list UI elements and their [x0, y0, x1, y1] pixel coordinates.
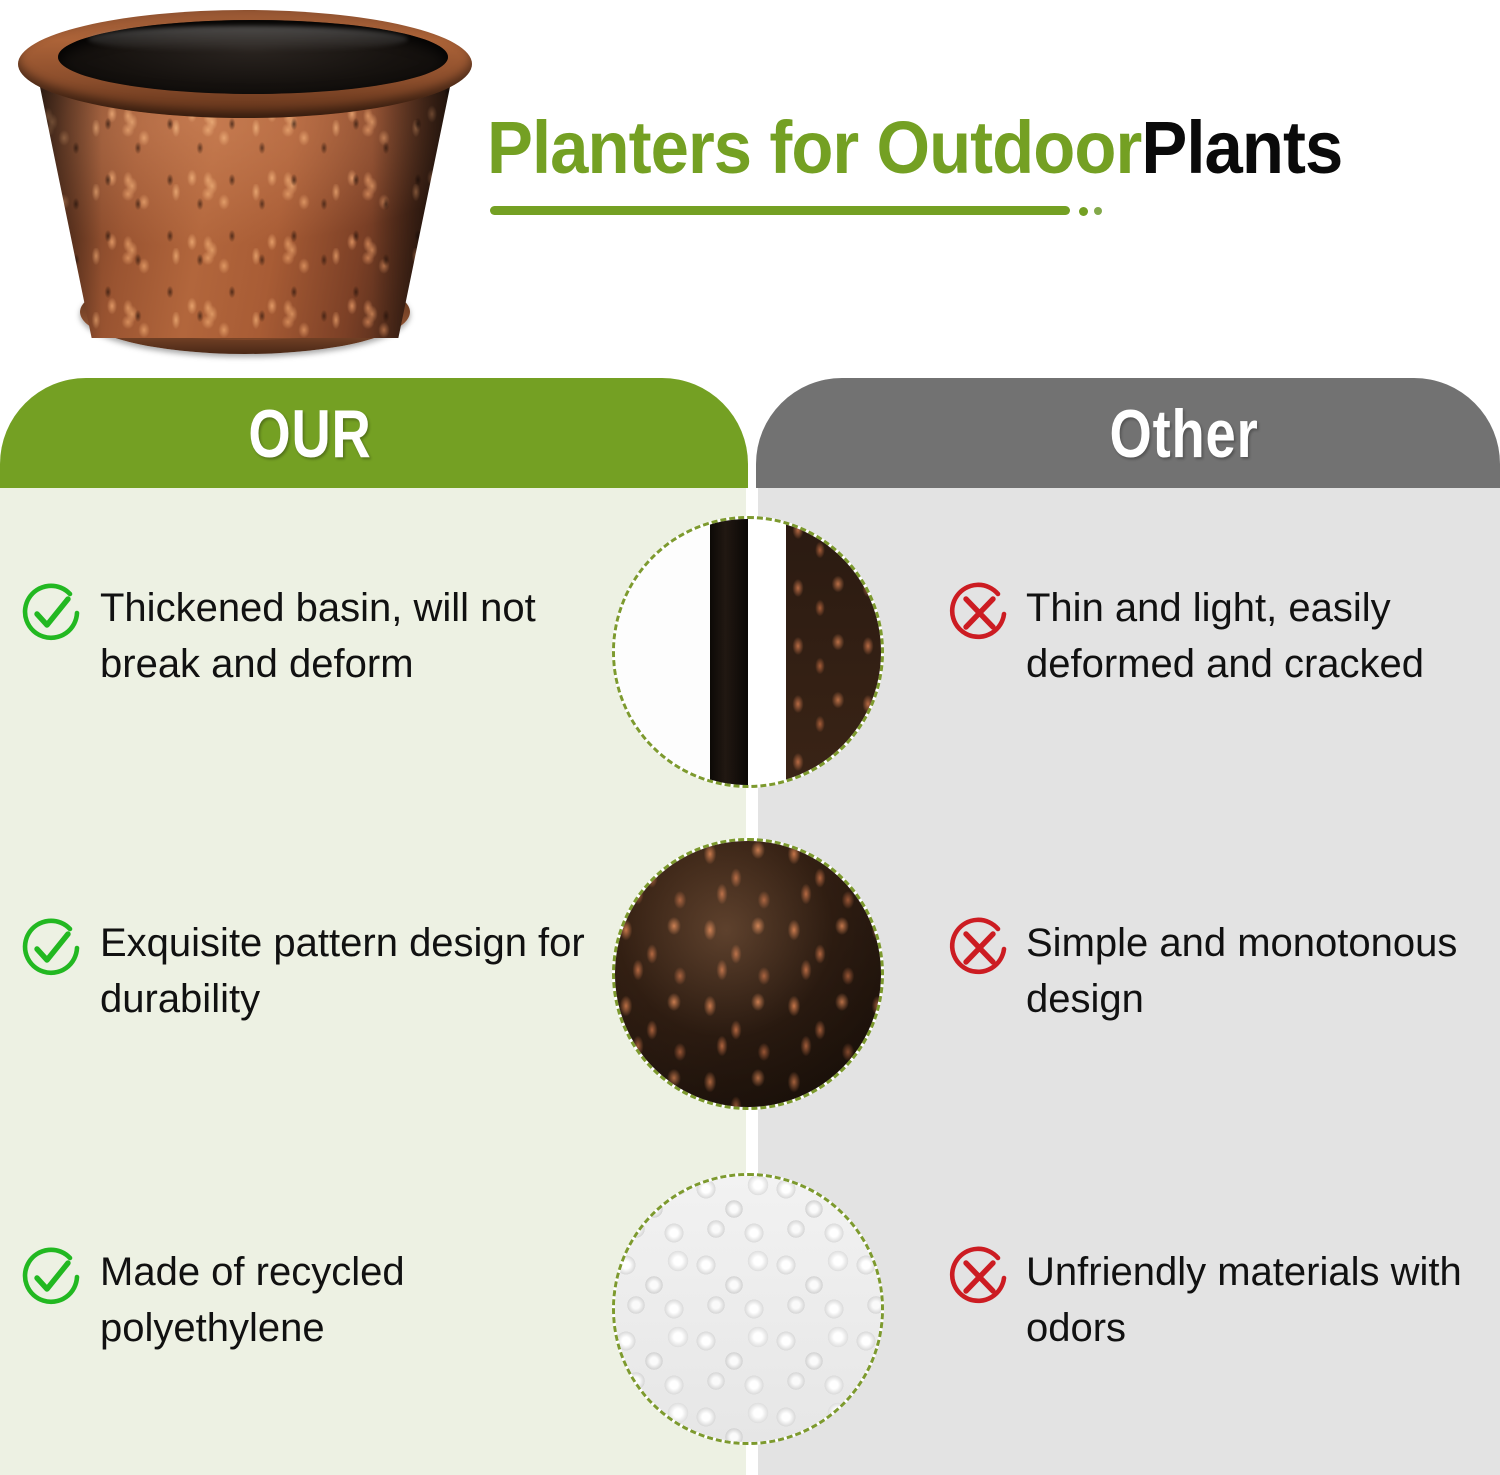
- pebble-pattern-texture-closeup-image: [612, 838, 884, 1110]
- circle-2-vignette: [612, 838, 884, 1110]
- other-feature-row-3: Unfriendly materials with odors: [946, 1240, 1491, 1356]
- other-column-header: Other: [756, 378, 1500, 488]
- other-feature-row-2: Simple and monotonous design: [946, 911, 1491, 1027]
- planter-rim-highlight: [88, 26, 408, 52]
- other-feature-row-1: Thin and light, easily deformed and crac…: [946, 576, 1491, 692]
- our-feature-row-3: Made of recycled polyethylene: [18, 1240, 608, 1356]
- circle-2-content: [612, 838, 884, 1110]
- other-feature-text-1: Thin and light, easily deformed and crac…: [1026, 576, 1491, 692]
- title-underline-dot-large: [1079, 207, 1088, 216]
- check-circle-icon: [18, 1244, 84, 1310]
- other-feature-text-3: Unfriendly materials with odors: [1026, 1240, 1491, 1356]
- x-circle-icon: [946, 1244, 1012, 1310]
- x-circle-icon: [946, 580, 1012, 646]
- other-column-header-label: Other: [886, 386, 1481, 482]
- bronze-pebbled-planter-with-saucer-image: [10, 2, 480, 370]
- our-column-header-label: OUR: [11, 386, 609, 482]
- page-title-black-part: Plants: [1141, 106, 1342, 189]
- our-feature-row-1: Thickened basin, will not break and defo…: [18, 576, 608, 692]
- recycled-polyethylene-pellets-closeup-image: [612, 1173, 884, 1445]
- planter-rim-thickness-closeup-image: [612, 516, 884, 788]
- circle-1-pebble-band: [786, 516, 884, 788]
- our-column-header: OUR: [0, 378, 748, 488]
- our-feature-row-2: Exquisite pattern design for durability: [18, 911, 608, 1027]
- hero-product-image: [10, 2, 480, 370]
- circle-3-content: [612, 1173, 884, 1445]
- planter-rim: [18, 10, 472, 118]
- page-title: Planters for OutdoorPlants: [487, 108, 1408, 188]
- other-feature-text-2: Simple and monotonous design: [1026, 911, 1491, 1027]
- circle-1-white-band: [612, 516, 715, 788]
- check-circle-icon: [18, 915, 84, 981]
- title-underline-rule: [490, 206, 1070, 215]
- our-feature-text-2: Exquisite pattern design for durability: [100, 911, 608, 1027]
- title-underline-dot-small: [1094, 207, 1102, 215]
- circle-1-black-band: [710, 516, 748, 788]
- comparison-board: OUR Other Thickened basin, will not brea…: [0, 378, 1500, 1475]
- x-circle-icon: [946, 915, 1012, 981]
- our-feature-text-3: Made of recycled polyethylene: [100, 1240, 608, 1356]
- page-title-green-part: Planters for Outdoor: [487, 106, 1141, 189]
- circle-1-copper-band: [745, 516, 791, 788]
- circle-3-pellet-texture: [612, 1173, 884, 1445]
- infographic-page: Planters for OutdoorPlants OUR Other Thi…: [0, 0, 1500, 1475]
- circle-1-content: [612, 516, 884, 788]
- check-circle-icon: [18, 580, 84, 646]
- our-feature-text-1: Thickened basin, will not break and defo…: [100, 576, 608, 692]
- hero-banner: Planters for OutdoorPlants: [0, 0, 1500, 378]
